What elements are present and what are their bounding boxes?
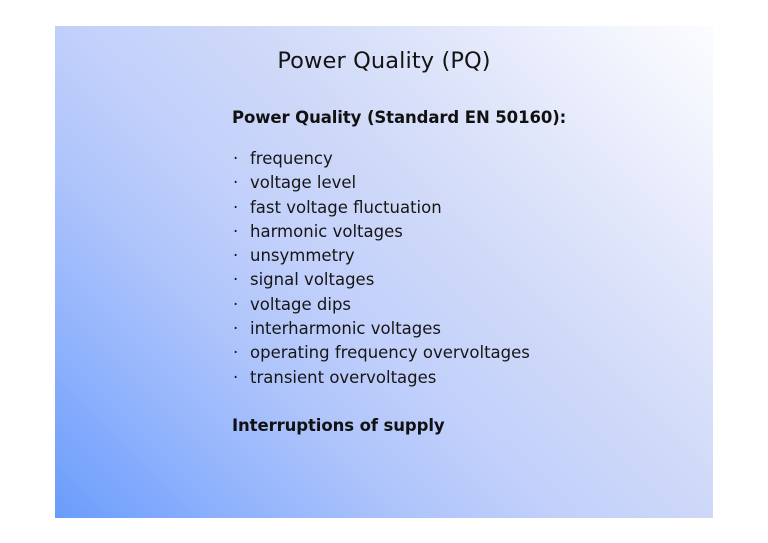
list-item-label: voltage level xyxy=(250,173,356,192)
list-item: · interharmonic voltages xyxy=(232,317,702,341)
power-quality-parameters-list: · frequency · voltage level · fast volta… xyxy=(232,147,702,390)
bullet-dot-icon: · xyxy=(233,366,238,390)
bullet-dot-icon: · xyxy=(233,341,238,365)
power-quality-standard-heading: Power Quality (Standard EN 50160): xyxy=(232,108,702,127)
list-item: · harmonic voltages xyxy=(232,220,702,244)
list-item-label: transient overvoltages xyxy=(250,368,436,387)
list-item-label: operating frequency overvoltages xyxy=(250,343,530,362)
interruptions-of-supply-heading: Interruptions of supply xyxy=(232,416,702,435)
bullet-dot-icon: · xyxy=(233,220,238,244)
bullet-dot-icon: · xyxy=(233,171,238,195)
list-item: · frequency xyxy=(232,147,702,171)
list-item-label: harmonic voltages xyxy=(250,222,403,241)
slide-canvas: Power Quality (PQ) Power Quality (Standa… xyxy=(55,26,713,518)
slide-title: Power Quality (PQ) xyxy=(55,48,713,74)
list-item-label: frequency xyxy=(250,149,333,168)
list-item: · unsymmetry xyxy=(232,244,702,268)
bullet-dot-icon: · xyxy=(233,268,238,292)
bullet-dot-icon: · xyxy=(233,293,238,317)
bullet-dot-icon: · xyxy=(233,147,238,171)
list-item: · transient overvoltages xyxy=(232,366,702,390)
list-item: · operating frequency overvoltages xyxy=(232,341,702,365)
list-item: · fast voltage fluctuation xyxy=(232,196,702,220)
list-item: · signal voltages xyxy=(232,268,702,292)
bullet-dot-icon: · xyxy=(233,244,238,268)
list-item-label: unsymmetry xyxy=(250,246,355,265)
bullet-dot-icon: · xyxy=(233,196,238,220)
list-item: · voltage dips xyxy=(232,293,702,317)
slide-body: Power Quality (Standard EN 50160): · fre… xyxy=(232,108,702,435)
list-item-label: voltage dips xyxy=(250,295,351,314)
list-item: · voltage level xyxy=(232,171,702,195)
list-item-label: signal voltages xyxy=(250,270,374,289)
bullet-dot-icon: · xyxy=(233,317,238,341)
list-item-label: fast voltage fluctuation xyxy=(250,198,442,217)
list-item-label: interharmonic voltages xyxy=(250,319,441,338)
